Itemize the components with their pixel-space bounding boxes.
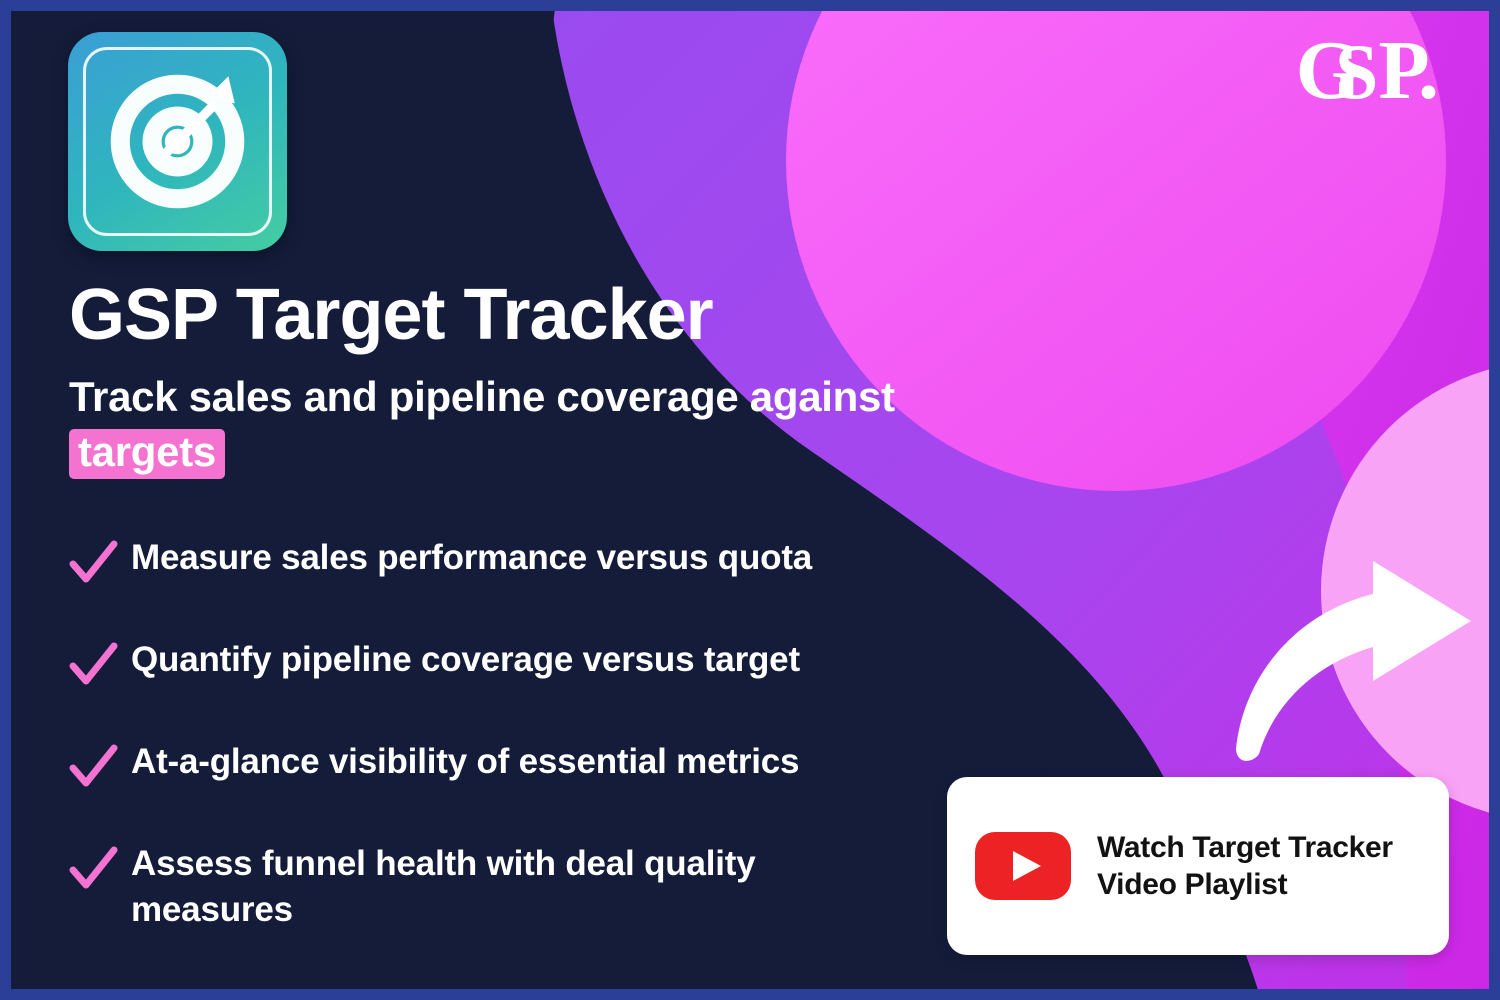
app-icon xyxy=(68,32,287,251)
feature-list: Measure sales performance versus quota Q… xyxy=(67,535,967,932)
gsp-logo-p: P. xyxy=(1378,24,1435,117)
curved-arrow-icon xyxy=(1223,559,1483,771)
headline-block: GSP Target Tracker Track sales and pipel… xyxy=(69,279,969,480)
page-title: GSP Target Tracker xyxy=(69,279,969,351)
gsp-logo-s: S xyxy=(1335,28,1374,115)
watch-video-playlist-card[interactable]: Watch Target Tracker Video Playlist xyxy=(947,777,1449,955)
feature-label: Quantify pipeline coverage versus target xyxy=(131,637,800,683)
list-item: Quantify pipeline coverage versus target xyxy=(67,637,967,699)
check-icon xyxy=(67,537,119,589)
list-item: At-a-glance visibility of essential metr… xyxy=(67,739,967,801)
watch-video-playlist-label: Watch Target Tracker Video Playlist xyxy=(1097,829,1421,903)
feature-label: Measure sales performance versus quota xyxy=(131,535,812,581)
page-subtitle: Track sales and pipeline coverage agains… xyxy=(69,369,909,480)
target-bullseye-icon xyxy=(98,62,257,221)
youtube-play-icon[interactable] xyxy=(975,832,1071,900)
feature-label: Assess funnel health with deal quality m… xyxy=(131,841,921,932)
gsp-logo: GSP. xyxy=(1296,29,1453,113)
check-icon xyxy=(67,843,119,895)
subtitle-highlight: targets xyxy=(69,429,225,479)
subtitle-prefix: Track sales and pipeline coverage agains… xyxy=(69,373,895,420)
list-item: Measure sales performance versus quota xyxy=(67,535,967,597)
banner-inner-panel: GSP. GSP Target Tracker Track sales and … xyxy=(11,11,1489,989)
check-icon xyxy=(67,741,119,793)
list-item: Assess funnel health with deal quality m… xyxy=(67,841,967,932)
check-icon xyxy=(67,639,119,691)
feature-label: At-a-glance visibility of essential metr… xyxy=(131,739,799,785)
promo-banner: GSP. GSP Target Tracker Track sales and … xyxy=(0,0,1500,1000)
